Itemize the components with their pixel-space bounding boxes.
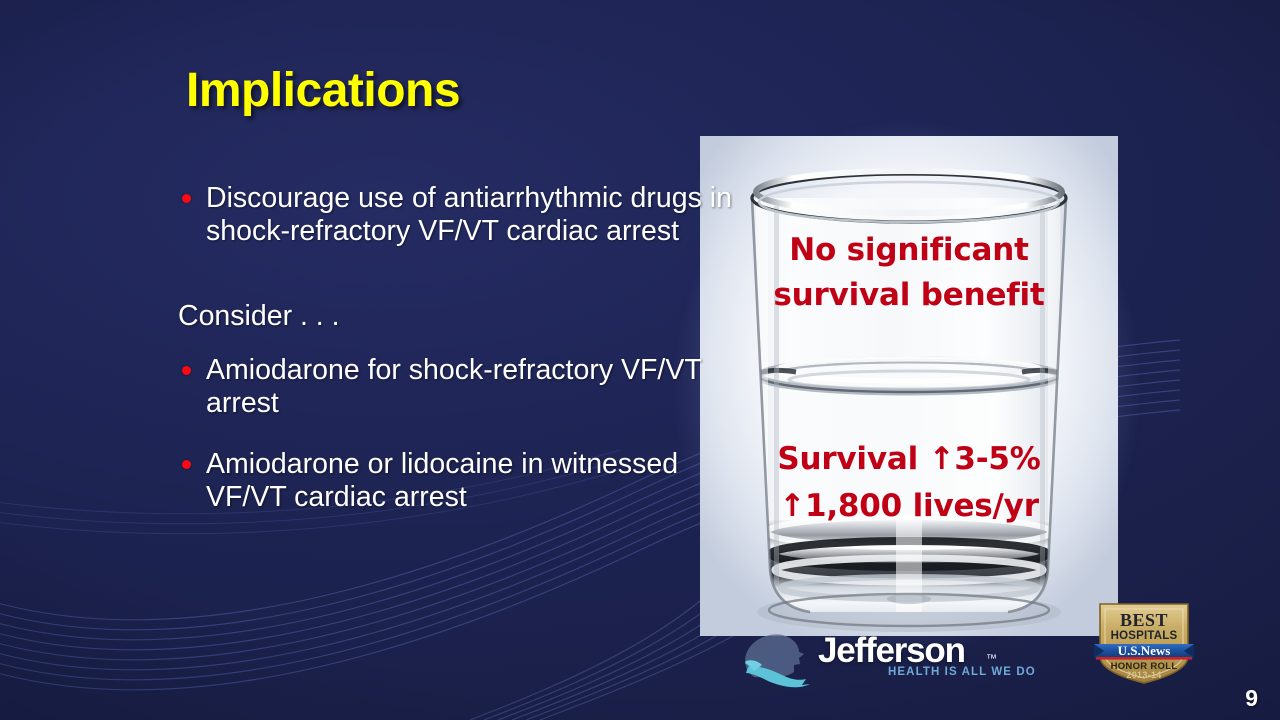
bullet-dot-icon bbox=[182, 194, 191, 203]
jefferson-trademark: ™ bbox=[986, 653, 997, 665]
spacer bbox=[176, 333, 736, 354]
bullet-item: Discourage use of antiarrhythmic drugs i… bbox=[176, 182, 736, 248]
usnews-best-hospitals-badge: BEST HOSPITALS U.S.News HONOR ROLL 2013-… bbox=[1092, 600, 1196, 686]
slide-title: Implications bbox=[186, 63, 460, 118]
badge-best-text: BEST bbox=[1120, 610, 1168, 630]
bullet-item: Amiodarone for shock-refractory VF/VT ar… bbox=[176, 354, 736, 420]
badge-usnews-text: U.S.News bbox=[1118, 643, 1171, 658]
badge-hospitals-text: HOSPITALS bbox=[1111, 630, 1178, 642]
page-number: 9 bbox=[1245, 685, 1258, 712]
spacer bbox=[176, 420, 736, 448]
bullet-item: Amiodarone or lidocaine in witnessed VF/… bbox=[176, 448, 736, 514]
overlay-text-top: No significant survival benefit bbox=[700, 228, 1118, 318]
presentation-slide: No significant survival benefit Survival… bbox=[0, 0, 1280, 720]
slide-body: Discourage use of antiarrhythmic drugs i… bbox=[176, 182, 736, 514]
overlay-top-line-2: survival benefit bbox=[700, 273, 1118, 318]
jefferson-wordmark: Jefferson bbox=[818, 631, 965, 671]
overlay-bottom-line-1: Survival ↑3-5% bbox=[700, 436, 1118, 483]
jefferson-head-icon bbox=[736, 627, 822, 689]
bullet-dot-icon bbox=[182, 366, 191, 375]
bullet-dot-icon bbox=[182, 460, 191, 469]
bullet-label: Amiodarone for shock-refractory VF/VT ar… bbox=[206, 354, 701, 419]
jefferson-logo: Jefferson ™ HEALTH IS ALL WE DO bbox=[736, 623, 1036, 695]
consider-heading: Consider . . . bbox=[176, 300, 736, 333]
badge-year-text: 2013-14 bbox=[1126, 670, 1161, 680]
glass-of-water-image bbox=[700, 136, 1118, 636]
overlay-bottom-line-2: ↑1,800 lives/yr bbox=[700, 483, 1118, 530]
overlay-top-line-1: No significant bbox=[700, 228, 1118, 273]
jefferson-tagline: HEALTH IS ALL WE DO bbox=[888, 666, 1036, 678]
bullet-label: Amiodarone or lidocaine in witnessed VF/… bbox=[206, 448, 678, 513]
spacer bbox=[176, 248, 736, 300]
bullet-label: Discourage use of antiarrhythmic drugs i… bbox=[206, 182, 732, 247]
overlay-text-bottom: Survival ↑3-5% ↑1,800 lives/yr bbox=[700, 436, 1118, 530]
